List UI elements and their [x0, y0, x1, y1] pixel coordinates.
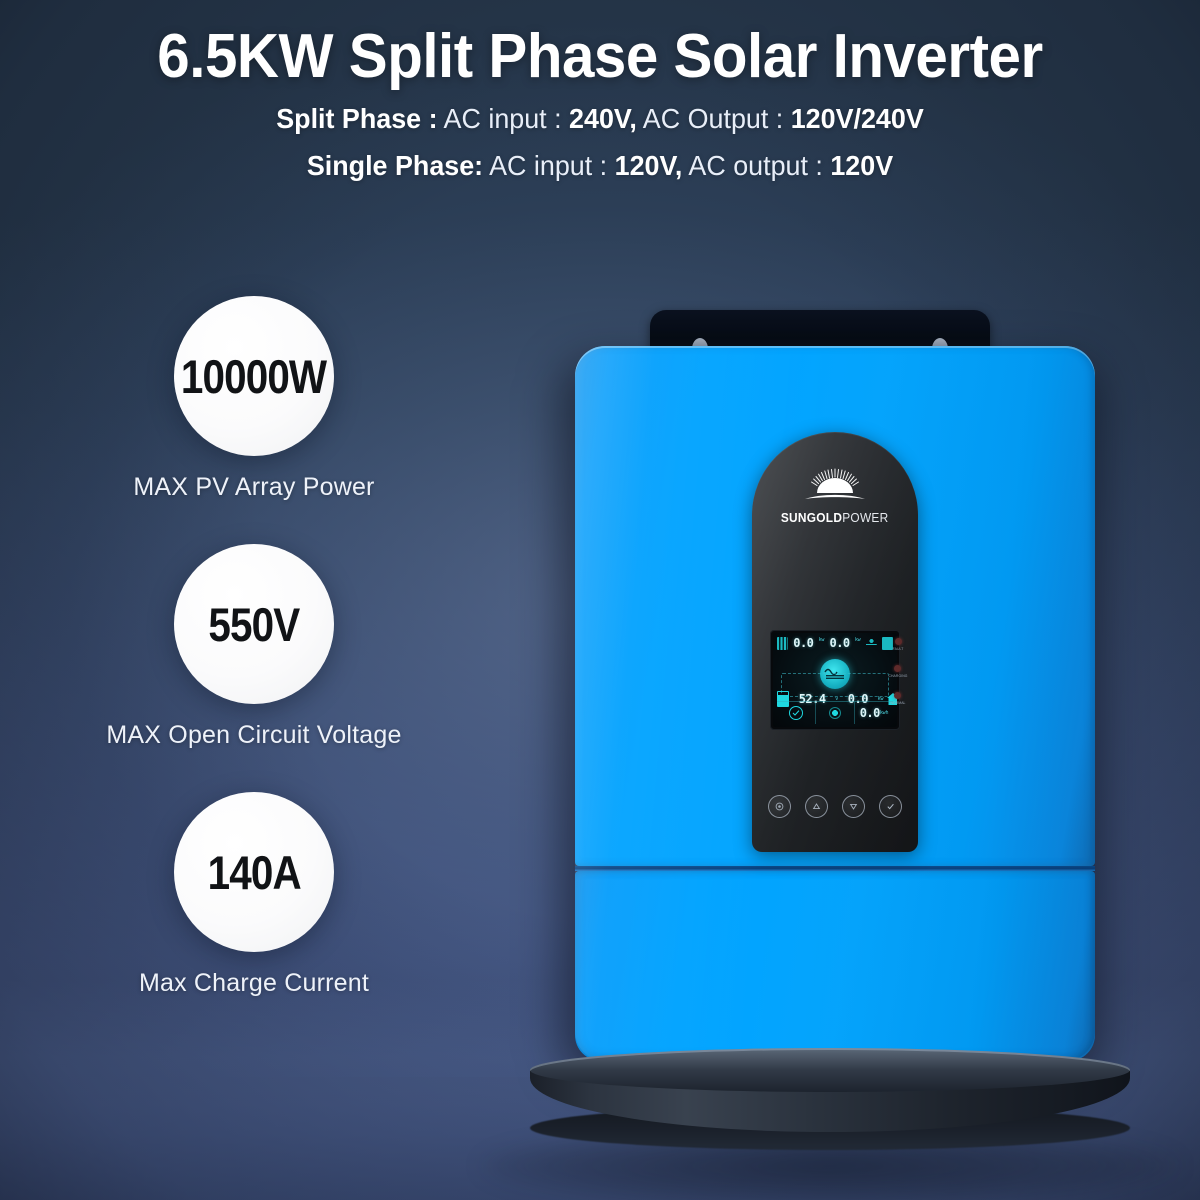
badge-circle: 10000W [174, 296, 334, 456]
led-dot-charging [894, 665, 901, 672]
led-indicator: NORMAL [890, 692, 905, 705]
lcd-status-cell [777, 702, 815, 724]
led-indicator: FAULT [893, 638, 904, 651]
up-button[interactable] [805, 795, 828, 818]
feature-badge-max-pv-power: 10000W MAX PV Array Power [44, 296, 464, 502]
led-label: FAULT [893, 647, 904, 651]
header: 6.5KW Split Phase Solar Inverter Split P… [0, 24, 1200, 180]
check-circle-icon [789, 706, 803, 720]
sunburst-icon [797, 468, 873, 506]
lcd-load-current-unit: kwh [880, 710, 888, 716]
badge-value: 10000W [181, 349, 326, 404]
brand-name-light: POWER [843, 511, 889, 525]
split-phase-output-label: AC Output : [643, 103, 783, 134]
lcd-top-row: 0.0 kw 0.0 kw [773, 637, 897, 650]
single-phase-output-value: 120V [830, 150, 893, 181]
chevron-up-icon [811, 801, 822, 812]
lcd-load-current-cell: 0.0 kwh [854, 702, 893, 724]
display-pedestal [530, 1048, 1130, 1166]
power-escape-icon [774, 801, 785, 812]
split-phase-output-value: 120V/240V [791, 103, 924, 134]
single-phase-input-label: AC input : [489, 150, 607, 181]
inverter-body-lower [575, 871, 1095, 1061]
lcd-ac-power: 0.0 [829, 637, 849, 649]
product-marketing-banner: 6.5KW Split Phase Solar Inverter Split P… [0, 0, 1200, 1200]
down-button[interactable] [842, 795, 865, 818]
brand-logo-text: SUNGOLDPOWER [781, 511, 889, 525]
lcd-mode-cell [815, 702, 854, 724]
split-phase-label: Split Phase : [276, 103, 437, 134]
inverter-faceplate: SUNGOLDPOWER 0.0 kw 0.0 kw [752, 432, 918, 852]
control-button-row [752, 795, 918, 818]
single-phase-input-value: 120V, [615, 150, 683, 181]
lcd-load-current: 0.0 [860, 707, 880, 719]
led-label: CHARGING [888, 674, 907, 678]
led-indicator: CHARGING [888, 665, 907, 678]
lcd-pv-power: 0.0 [793, 637, 813, 649]
brand-logo: SUNGOLDPOWER [752, 468, 918, 525]
brand-name-bold: SUNGOLD [781, 511, 842, 525]
escape-button[interactable] [768, 795, 791, 818]
check-glyph [792, 709, 800, 717]
lcd-bottom-row: 0.0 kwh [777, 701, 893, 724]
split-phase-input-value: 240V, [569, 103, 637, 134]
lcd-screen: 0.0 kw 0.0 kw [773, 633, 897, 727]
feature-badge-max-charge-current: 140A Max Charge Current [44, 792, 464, 998]
badge-caption: MAX PV Array Power [44, 473, 464, 502]
lcd-display[interactable]: 0.0 kw 0.0 kw [770, 630, 900, 730]
spec-line-split-phase: Split Phase : AC input : 240V, AC Output… [24, 105, 1176, 133]
grid-tower-icon [866, 637, 877, 650]
feature-badge-max-open-circuit-voltage: 550V MAX Open Circuit Voltage [44, 544, 464, 750]
chevron-down-icon [848, 801, 859, 812]
product-image-inverter: SUNGOLDPOWER 0.0 kw 0.0 kw [520, 300, 1140, 1130]
led-indicator-strip: FAULT CHARGING NORMAL [885, 638, 911, 705]
enter-button[interactable] [879, 795, 902, 818]
badge-value: 140A [207, 845, 300, 900]
lcd-ac-power-unit: kw [855, 637, 861, 643]
lcd-pv-power-unit: kw [819, 637, 825, 643]
badge-circle: 550V [174, 544, 334, 704]
check-icon [885, 801, 896, 812]
spec-line-single-phase: Single Phase: AC input : 120V, AC output… [24, 152, 1176, 180]
single-phase-label: Single Phase: [307, 150, 483, 181]
pedestal-rim [530, 1048, 1130, 1092]
led-label: NORMAL [890, 701, 905, 705]
badge-caption: MAX Open Circuit Voltage [44, 721, 464, 750]
led-dot-fault [895, 638, 902, 645]
page-title: 6.5KW Split Phase Solar Inverter [36, 24, 1164, 89]
feature-badge-list: 10000W MAX PV Array Power 550V MAX Open … [44, 296, 464, 998]
single-phase-output-label: AC output : [688, 150, 822, 181]
badge-circle: 140A [174, 792, 334, 952]
solar-panel-icon [777, 637, 788, 650]
gear-icon [829, 707, 841, 719]
badge-caption: Max Charge Current [44, 969, 464, 998]
split-phase-input-label: AC input : [444, 103, 562, 134]
led-dot-normal [894, 692, 901, 699]
badge-value: 550V [209, 597, 300, 652]
